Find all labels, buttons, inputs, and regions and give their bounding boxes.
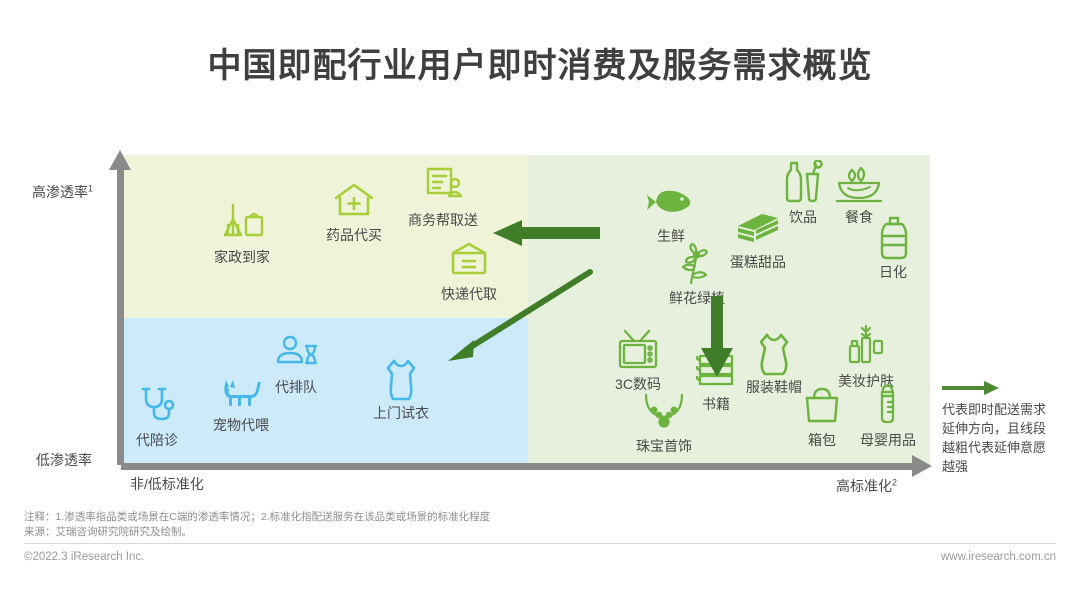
demand-arrow-left [492, 220, 600, 246]
cosmetics-icon [811, 324, 921, 370]
copyright-text: ©2022.3 iResearch Inc. [24, 551, 144, 563]
item-maternal-infant[interactable]: 母婴用品 [833, 383, 943, 450]
item-label: 宠物代喂 [186, 415, 296, 435]
item-flowers-plants[interactable]: 鲜花绿植 [642, 241, 752, 308]
x-axis-high-text: 高标准化 [836, 478, 892, 494]
item-beauty-skincare[interactable]: 美妆护肤 [811, 324, 921, 391]
item-label: 珠宝首饰 [609, 436, 719, 456]
item-business-courier[interactable]: 商务帮取送 [388, 163, 498, 230]
item-label: 上门试衣 [346, 403, 456, 423]
legend-arrow-icon [942, 378, 1000, 398]
item-queue-service[interactable]: 代排队 [241, 330, 351, 397]
x-axis-low-label: 非/低标准化 [130, 474, 204, 494]
demand-arrow-diagonal [440, 268, 595, 368]
footnote-definitions: 注释：1.渗透率指品类或场景在C端的渗透率情况；2.标准化指配送服务在该品类或场… [24, 510, 924, 525]
person-queue-icon [241, 330, 351, 376]
x-axis-high-label: 高标准化2 [836, 476, 897, 496]
footnote-source: 来源：艾瑞咨询研究院研究及绘制。 [24, 525, 924, 540]
footer-divider [24, 543, 1056, 544]
document-person-icon [388, 163, 498, 209]
legend-description: 代表即时配送需求延伸方向，且线段越粗代表延伸意愿越强 [942, 400, 1054, 476]
baby-bottle-icon [833, 383, 943, 429]
item-label: 商务帮取送 [388, 210, 498, 230]
x-axis-arrowhead-icon [912, 455, 932, 477]
flower-plant-icon [642, 241, 752, 287]
page-footer: ©2022.3 iResearch Inc. www.iresearch.com… [0, 551, 1080, 573]
y-axis-high-label: 高渗透率1 [32, 182, 93, 202]
y-axis-high-text: 高渗透率 [32, 184, 88, 200]
item-label: 母婴用品 [833, 430, 943, 450]
item-jewelry[interactable]: 珠宝首饰 [609, 389, 719, 456]
broom-bucket-icon [187, 200, 297, 246]
y-axis-arrowhead-icon [109, 150, 131, 170]
footnotes: 注释：1.渗透率指品类或场景在C端的渗透率情况；2.标准化指配送服务在该品类或场… [24, 510, 924, 540]
demand-arrow-down [700, 296, 734, 378]
toiletry-bottle-icon [838, 215, 948, 261]
infographic-page: 中国即配行业用户即时消费及服务需求概览 高渗透率1 低渗透率 非/低标准化 高标… [0, 0, 1080, 589]
y-axis-footnote-marker: 1 [88, 183, 93, 193]
necklace-icon [609, 389, 719, 435]
item-label: 代排队 [241, 377, 351, 397]
page-title: 中国即配行业用户即时消费及服务需求概览 [0, 38, 1080, 87]
y-axis-low-label: 低渗透率 [36, 450, 92, 470]
item-label: 鲜花绿植 [642, 288, 752, 308]
x-axis-line [121, 463, 916, 470]
item-label: 家政到家 [187, 247, 297, 267]
website-link[interactable]: www.iresearch.com.cn [941, 551, 1056, 563]
item-daily-chemicals[interactable]: 日化 [838, 215, 948, 282]
meal-bowl-icon [804, 160, 914, 206]
x-axis-footnote-marker: 2 [892, 477, 897, 487]
item-housekeeping[interactable]: 家政到家 [187, 200, 297, 267]
item-label: 日化 [838, 262, 948, 282]
